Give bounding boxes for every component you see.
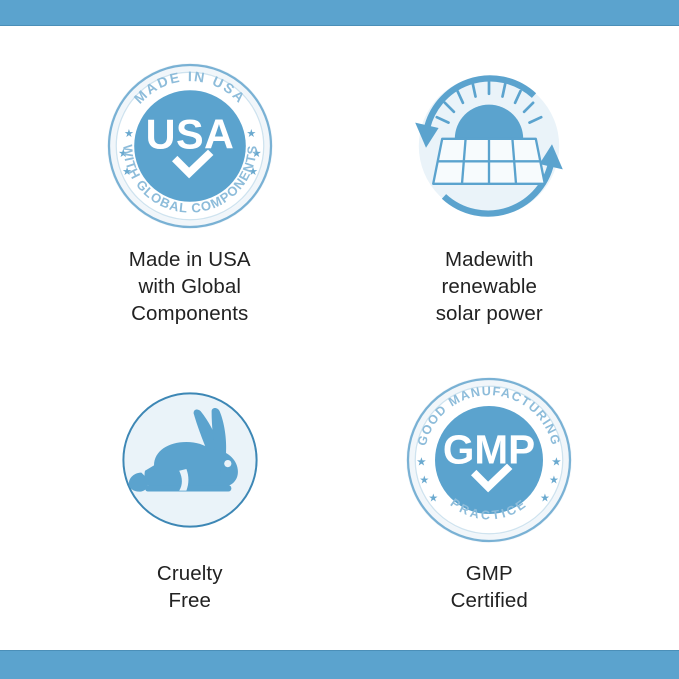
badge-caption: Madewith renewable solar power bbox=[436, 246, 543, 327]
svg-text:★: ★ bbox=[429, 492, 439, 504]
made-in-usa-seal-icon: ★ ★ ★ ★ ★ ★ MADE IN USA WITH GLOBAL COMP… bbox=[100, 56, 280, 236]
top-color-band bbox=[0, 0, 679, 26]
svg-text:★: ★ bbox=[246, 128, 256, 140]
solar-panel-recycle-icon bbox=[399, 56, 579, 236]
gmp-seal-icon: ★ ★ ★ ★ ★ ★ GOOD MANUFACTURING PRACTICE … bbox=[399, 370, 579, 550]
seal-center-text: GMP bbox=[443, 427, 535, 473]
caption-line: Made in USA bbox=[129, 246, 251, 273]
badge-renewable-solar: Madewith renewable solar power bbox=[340, 56, 640, 348]
badges-grid: ★ ★ ★ ★ ★ ★ MADE IN USA WITH GLOBAL COMP… bbox=[0, 26, 679, 650]
svg-text:★: ★ bbox=[549, 474, 559, 486]
trust-badges-page: ★ ★ ★ ★ ★ ★ MADE IN USA WITH GLOBAL COMP… bbox=[0, 0, 679, 679]
svg-text:★: ★ bbox=[552, 455, 562, 468]
caption-line: renewable bbox=[436, 273, 543, 300]
svg-text:★: ★ bbox=[420, 474, 430, 486]
badge-gmp-certified: ★ ★ ★ ★ ★ ★ GOOD MANUFACTURING PRACTICE … bbox=[340, 348, 640, 640]
caption-line: Certified bbox=[451, 587, 528, 614]
caption-line: with Global bbox=[129, 273, 251, 300]
badge-cruelty-free: Cruelty Free bbox=[40, 348, 340, 640]
svg-text:★: ★ bbox=[124, 128, 134, 140]
solar-panel-icon bbox=[433, 139, 545, 184]
svg-text:★: ★ bbox=[417, 455, 427, 468]
svg-text:★: ★ bbox=[540, 492, 550, 504]
badges-content: ★ ★ ★ ★ ★ ★ MADE IN USA WITH GLOBAL COMP… bbox=[0, 26, 679, 650]
badge-caption: GMP Certified bbox=[451, 560, 528, 614]
badge-caption: Made in USA with Global Components bbox=[129, 246, 251, 327]
caption-line: Free bbox=[157, 587, 223, 614]
caption-line: Components bbox=[129, 300, 251, 327]
caption-line: Madewith bbox=[436, 246, 543, 273]
badge-caption: Cruelty Free bbox=[157, 560, 223, 614]
caption-line: Cruelty bbox=[157, 560, 223, 587]
badge-made-in-usa: ★ ★ ★ ★ ★ ★ MADE IN USA WITH GLOBAL COMP… bbox=[40, 56, 340, 348]
rabbit-icon bbox=[100, 370, 280, 550]
caption-line: GMP bbox=[451, 560, 528, 587]
bottom-color-band bbox=[0, 650, 679, 679]
caption-line: solar power bbox=[436, 300, 543, 327]
seal-center-text: USA bbox=[145, 112, 234, 158]
